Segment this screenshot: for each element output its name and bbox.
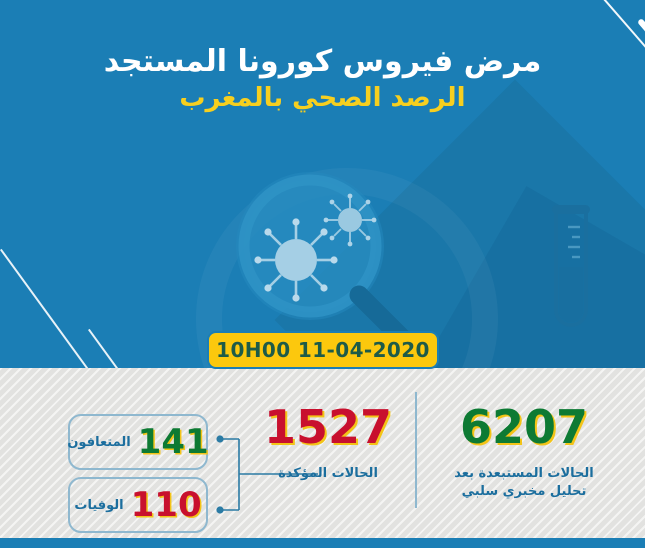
stat-label-excluded-line2: تحليل مخبري سلبي <box>424 483 624 501</box>
stat-label-excluded: الحالات المستبعدة بعد تحليل مخبري سلبي <box>424 465 624 500</box>
stat-value-confirmed: 1527 <box>248 404 408 450</box>
title-line-secondary: الرصد الصحي بالمغرب <box>0 83 645 114</box>
stat-value-recovered: 141 <box>138 425 209 459</box>
date-badge: 10H00 11-04-2020 <box>207 331 439 369</box>
magnifier-icon <box>232 168 432 343</box>
stat-label-confirmed: الحالات المؤكدة <box>248 465 408 483</box>
stat-excluded-cases: 6207 الحالات المستبعدة بعد تحليل مخبري س… <box>424 404 624 500</box>
stat-box-deaths: 110 الوفيات <box>68 477 208 533</box>
covid-dashboard-poster: مرض فيروس كورونا المستجد الرصد الصحي بال… <box>0 0 645 548</box>
stat-value-excluded: 6207 <box>424 404 624 450</box>
stat-box-recovered: 141 المتعافون <box>68 414 208 470</box>
test-tube-icon <box>548 205 594 330</box>
stat-confirmed-cases: 1527 الحالات المؤكدة <box>248 404 408 483</box>
virus-icon <box>254 218 337 301</box>
virus-icon <box>324 194 377 247</box>
stat-label-excluded-line1: الحالات المستبعدة بعد <box>424 465 624 483</box>
stat-label-deaths: الوفيات <box>74 498 123 513</box>
page-title: مرض فيروس كورونا المستجد الرصد الصحي بال… <box>0 44 645 114</box>
bottom-bar <box>0 538 645 548</box>
date-badge-text: 10H00 11-04-2020 <box>216 338 430 362</box>
stat-label-recovered: المتعافون <box>67 435 130 450</box>
test-tube-illustration <box>548 205 594 330</box>
decorative-diagonal-line <box>88 329 124 368</box>
title-line-primary: مرض فيروس كورونا المستجد <box>0 44 645 79</box>
magnifier-illustration <box>232 168 432 343</box>
decorative-diagonal-line <box>0 249 110 368</box>
stat-value-deaths: 110 <box>131 488 202 522</box>
vertical-divider <box>415 392 417 508</box>
